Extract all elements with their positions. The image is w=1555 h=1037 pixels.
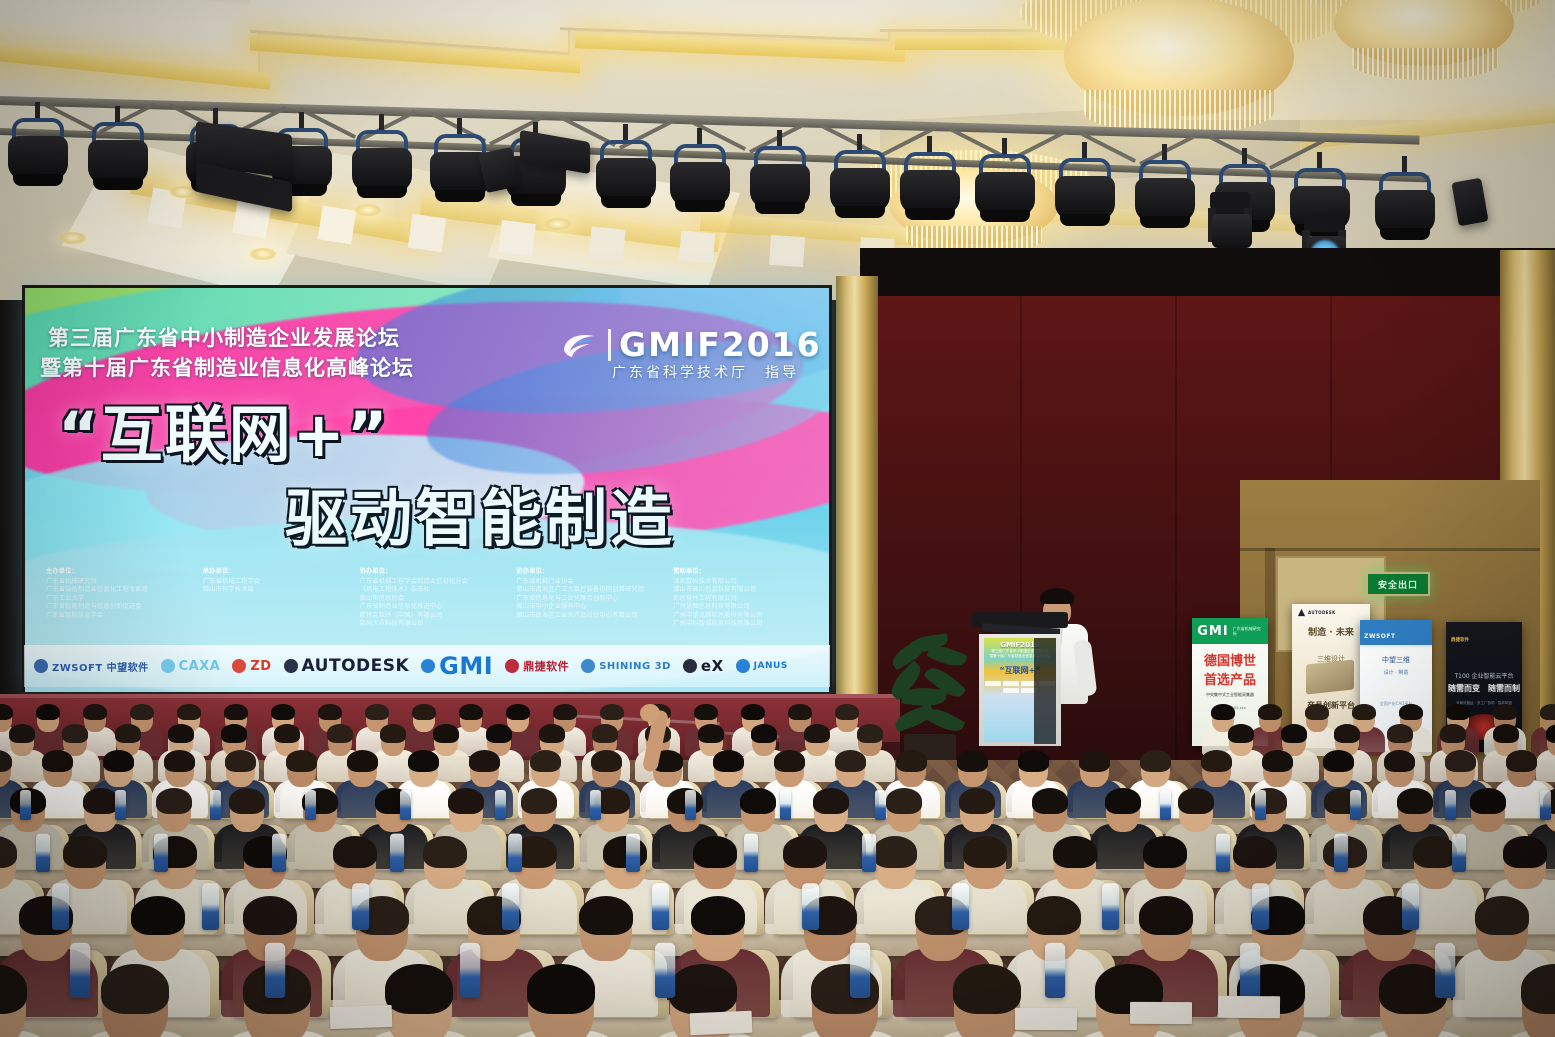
water-bottle <box>1160 790 1171 820</box>
organizer-line: 广东省机械研究所 <box>46 578 189 587</box>
audience-person-hair <box>1032 788 1069 814</box>
zd-logo-text: ZD <box>250 659 271 674</box>
gmif-brand-lockup: GMIF2016 <box>560 325 822 364</box>
organizer-line: 广州慧图信息科技有限公司 <box>673 603 816 612</box>
organizer-line: 佛山市高川信息科技有限公司 <box>673 586 816 595</box>
banner-autodesk-illustration <box>1306 659 1354 694</box>
swoosh-logo-icon <box>560 331 600 359</box>
water-bottle <box>115 790 126 820</box>
audience-person-hair <box>1258 704 1282 720</box>
audience-person-hair <box>225 750 256 772</box>
gmi-logo: GMI <box>421 652 493 680</box>
autodesk-logo: AUTODESK <box>284 656 410 676</box>
ex-logo-text: eX <box>701 657 724 675</box>
audience-person-hair <box>83 788 120 814</box>
water-bottle <box>272 834 286 872</box>
audience-person-hair <box>408 750 439 772</box>
chandelier-far-right <box>1300 0 1550 110</box>
water-bottle <box>52 883 69 930</box>
audience-person-hair <box>1493 704 1517 720</box>
audience-person-hair <box>1399 704 1423 720</box>
document-on-table <box>1218 996 1280 1019</box>
gmif-event-sub: 广东省科学技术厅 指导 <box>612 362 799 382</box>
water-bottle <box>1334 834 1348 872</box>
stage-light <box>900 152 960 222</box>
audience-person-hair <box>1228 724 1254 743</box>
organizer-line: 凯思软件工程有限公司 <box>673 595 816 604</box>
screen-slogan-line2: 驱动智能制造 <box>285 468 675 558</box>
ex-logo: eX <box>683 657 724 675</box>
water-bottle <box>210 790 221 820</box>
audience-person-hair <box>1201 750 1232 772</box>
sponsor-logo-strip: ZWSOFT 中望软件CAXAZDAUTODESKGMI鼎捷软件SHINING … <box>24 645 830 687</box>
audience-person-hair <box>423 836 467 868</box>
audience-person-hair <box>101 964 169 1014</box>
audience-person-hair <box>327 724 353 743</box>
audience-person-hair <box>0 704 13 720</box>
organizer-line: 广东省机械工程学会 <box>203 578 346 587</box>
audience-person-hair <box>486 724 512 743</box>
audience-raised-hand <box>640 704 660 722</box>
audience-person-hair <box>1281 724 1307 743</box>
dingjie-logo: 鼎捷软件 <box>505 658 569 674</box>
stage-light <box>1375 172 1435 242</box>
audience-person-hair <box>1233 836 1277 868</box>
exit-sign: 安全出口 <box>1366 572 1430 596</box>
audience-person-hair <box>1470 788 1507 814</box>
audience-person-hair <box>1262 750 1293 772</box>
water-bottle <box>685 790 696 820</box>
audience-person-hair <box>1387 724 1413 743</box>
stage-light <box>1135 160 1195 230</box>
audience-person-hair <box>527 964 595 1014</box>
audience-person-hair <box>1053 836 1097 868</box>
organizer-line: 深圳数码技术有限公司 <box>673 578 816 587</box>
audience-person-hair <box>539 724 565 743</box>
water-bottle <box>495 790 506 820</box>
audience-person-hair <box>603 836 647 868</box>
audience-person-hair <box>600 704 624 720</box>
dingjie-logo-mark-icon <box>505 659 519 673</box>
audience-person-hair <box>83 704 107 720</box>
audience-person-hair <box>1445 750 1476 772</box>
banner-t100-headline2: 随需而变 随需而制 <box>1446 683 1522 694</box>
organizer-line: 佛山市科学技术局 <box>203 586 346 595</box>
audience-person-hair <box>957 750 988 772</box>
audience-person-hair <box>1506 750 1537 772</box>
banner-t100-brand: 鼎捷软件 <box>1451 638 1469 643</box>
audience-person-hair <box>177 704 201 720</box>
audience-person-hair <box>243 896 297 935</box>
water-bottle <box>652 883 669 930</box>
organizer-column: 主办单位：广东省机械研究所广东省装备制造业信息化工程专家组广东工业大学广东省智能… <box>46 566 189 629</box>
organizer-line: 广东省信息化与工业化融合创新中心 <box>516 595 659 604</box>
banner-gmi-headline1: 德国博世 <box>1192 650 1268 669</box>
audience-person-hair <box>530 750 561 772</box>
audience-person-hair <box>318 704 342 720</box>
water-bottle <box>1452 834 1466 872</box>
stage-light <box>352 130 412 200</box>
organizer-line: 广东省智能信息学会 <box>46 612 189 621</box>
audience-person-hair <box>579 896 633 935</box>
stage-light <box>975 154 1035 224</box>
stage-light <box>750 146 810 216</box>
audience-person-hair <box>131 896 185 935</box>
ex-logo-mark-icon <box>683 659 697 673</box>
stage-light <box>1055 158 1115 228</box>
water-bottle <box>502 883 519 930</box>
audience-person-hair <box>274 724 300 743</box>
water-bottle <box>352 883 369 930</box>
audience-person-hair <box>1384 750 1415 772</box>
audience-person-hair <box>271 704 295 720</box>
water-bottle <box>744 834 758 872</box>
audience-person-hair <box>1143 836 1187 868</box>
banner-gmi-header: GMI 广东省机械研究所 <box>1192 618 1268 644</box>
audience-person-hair <box>1540 704 1555 720</box>
audience-person-hair <box>1440 724 1466 743</box>
organizer-column-heading: 赞助单位： <box>673 566 816 575</box>
water-bottle <box>1102 883 1119 930</box>
audience-person-hair <box>448 788 485 814</box>
water-bottle <box>1255 790 1266 820</box>
water-bottle <box>154 834 168 872</box>
water-bottle <box>400 790 411 820</box>
audience-person-hair <box>229 788 266 814</box>
audience-person-hair <box>63 836 107 868</box>
screen-title-line1: 第三届广东省中小制造企业发展论坛 <box>48 322 400 352</box>
audience-person-hair <box>62 724 88 743</box>
organizer-line: 《机电工程技术》杂志社 <box>360 586 503 595</box>
audience-person-hair <box>459 704 483 720</box>
audience-person-hair <box>788 704 812 720</box>
audience-person-hair <box>1079 750 1110 772</box>
audience-person-hair <box>1503 836 1547 868</box>
zwsoft-logo-text: ZWSOFT 中望软件 <box>52 659 149 674</box>
audience-person-hair <box>804 724 830 743</box>
audience-person-hair <box>1446 704 1470 720</box>
water-bottle <box>1350 790 1361 820</box>
banner-zwsoft-sub: 设计 · 制造 <box>1360 669 1432 676</box>
audience-person-hair <box>713 750 744 772</box>
water-bottle <box>590 790 601 820</box>
water-bottle <box>1435 943 1455 998</box>
organizer-column: 协办单位：广东省机械行业协会佛山市南海区广工大数控装备协同创新研究院广东省信息化… <box>516 566 659 629</box>
audience-person-hair <box>694 704 718 720</box>
organizer-line: 佛山市南海区广工大数控装备协同创新研究院 <box>516 586 659 595</box>
audience-person-hair <box>469 750 500 772</box>
banner-autodesk-headline: 制造 · 未来 <box>1292 625 1370 638</box>
shining3d-logo-text: SHINING 3D <box>599 661 671 672</box>
water-bottle <box>850 943 870 998</box>
audience-person-hair <box>1211 704 1235 720</box>
audience-person-hair <box>886 788 923 814</box>
caxa-logo-mark-icon <box>161 659 175 673</box>
water-bottle <box>202 883 219 930</box>
stage-light <box>670 144 730 214</box>
audience-person-hair <box>774 750 805 772</box>
water-bottle <box>802 883 819 930</box>
banner-gmi-sub: 中央集中式工业智能采集器 <box>1192 692 1268 698</box>
autodesk-mark-icon <box>1297 608 1306 617</box>
organizer-line: 佛山市南海区工业大产品设计中心有限公司 <box>516 612 659 621</box>
water-bottle <box>1240 943 1260 998</box>
water-bottle <box>265 943 285 998</box>
water-bottle <box>862 834 876 872</box>
organizer-line: 佛山市信息协会 <box>360 595 503 604</box>
banner-zwsoft-headline: 中望三维 <box>1360 655 1432 665</box>
audience-person-hair <box>698 724 724 743</box>
audience-person-hair <box>1178 788 1215 814</box>
audience-person-hair <box>1305 704 1329 720</box>
audience-person-hair <box>783 836 827 868</box>
audience-person-hair <box>669 964 737 1014</box>
stage-light <box>830 150 890 220</box>
audience-person-hair <box>433 724 459 743</box>
water-bottle <box>36 834 50 872</box>
audience-person-hair <box>286 750 317 772</box>
zwsoft-logo: ZWSOFT 中望软件 <box>34 659 149 674</box>
caxa-logo-text: CAXA <box>179 659 221 674</box>
audience-person-hair <box>1140 750 1171 772</box>
audience-person-hair <box>506 704 530 720</box>
document-on-table <box>1130 1002 1192 1024</box>
audience-person-hair <box>693 836 737 868</box>
organizer-column-heading: 承办单位： <box>203 566 346 575</box>
document-on-table <box>1015 1008 1077 1030</box>
organizer-column: 协办单位：广东省机械工程学会制造业信息化分会《机电工程技术》杂志社佛山市信息协会… <box>360 566 503 629</box>
audience-person-hair <box>42 750 73 772</box>
audience-person-hair <box>592 724 618 743</box>
water-bottle <box>655 943 675 998</box>
water-bottle <box>1402 883 1419 930</box>
organizer-line: 广东省智能制造与信息创新促进会 <box>46 603 189 612</box>
gmi-logo-text: GMI <box>439 652 493 680</box>
document-on-table <box>330 1005 393 1029</box>
organizer-columns: 主办单位：广东省机械研究所广东省装备制造业信息化工程专家组广东工业大学广东省智能… <box>46 566 816 629</box>
conference-hall-photo: 安全出口 第三届广东省中小制造企业发展论坛 暨第十届广东省制造业信息化高峰论坛 … <box>0 0 1555 1037</box>
organizer-column: 赞助单位：深圳数码技术有限公司佛山市高川信息科技有限公司凯思软件工程有限公司广州… <box>673 566 816 629</box>
water-bottle <box>1445 790 1456 820</box>
audience-person-hair <box>953 964 1021 1014</box>
janus-logo-text: JANUS <box>754 661 788 671</box>
banner-zwsoft-brand: ZWSOFT <box>1364 633 1396 640</box>
audience-person-hair <box>1475 896 1529 935</box>
audience-person-hair <box>813 788 850 814</box>
organizer-column-heading: 协办单位： <box>360 566 503 575</box>
autodesk-logo-text: AUTODESK <box>302 656 410 676</box>
audience-person-hair <box>164 750 195 772</box>
water-bottle <box>1252 883 1269 930</box>
water-bottle <box>460 943 480 998</box>
water-bottle <box>875 790 886 820</box>
audience-person-hair <box>1027 896 1081 935</box>
janus-logo-mark-icon <box>736 659 750 673</box>
audience-person-hair <box>591 750 622 772</box>
audience-person-hair <box>1105 788 1142 814</box>
potted-plant <box>884 636 974 766</box>
audience-person-hair <box>365 704 389 720</box>
audience-person-hair <box>380 724 406 743</box>
audience-person-hair <box>221 724 247 743</box>
banner-autodesk-brand: AUTODESK <box>1308 610 1336 615</box>
audience-person-hair <box>156 788 193 814</box>
exit-sign-label: 安全出口 <box>1378 578 1418 591</box>
audience-person-hair <box>553 704 577 720</box>
water-bottle <box>1540 790 1551 820</box>
audience-person-hair <box>333 836 377 868</box>
organizer-line: 广东工业大学 <box>46 595 189 604</box>
audience-person-hair <box>168 724 194 743</box>
organizer-line: 广东省机械行业协会 <box>516 578 659 587</box>
audience-person-hair <box>1323 750 1354 772</box>
screen-slogan-line1: “互联网+” <box>58 384 389 474</box>
audience-person-hair <box>1139 896 1193 935</box>
audience-person-hair <box>347 750 378 772</box>
dingjie-logo-text: 鼎捷软件 <box>523 658 569 674</box>
water-bottle <box>952 883 969 930</box>
banner-gmi-headline2: 首选产品 <box>1192 669 1268 688</box>
audience-person-hair <box>741 704 765 720</box>
zd-logo-mark-icon <box>232 659 246 673</box>
organizer-line: 佛山市中小企业服务中心 <box>516 603 659 612</box>
banner-t100-headline1: T100 企业智能云平台 <box>1446 671 1522 680</box>
janus-logo: JANUS <box>736 659 788 673</box>
banner-gmi-brand-sub: 广东省机械研究所 <box>1233 626 1263 636</box>
audience-person-hair <box>130 704 154 720</box>
audience-person-hair <box>1334 724 1360 743</box>
organizer-line: 广东省装备制造业信息化工程专家组 <box>46 586 189 595</box>
banner-gmi-brand: GMI <box>1197 624 1228 639</box>
water-bottle <box>1216 834 1230 872</box>
water-bottle <box>508 834 522 872</box>
gmi-logo-mark-icon <box>421 659 435 673</box>
audience-person-hair <box>521 788 558 814</box>
audience-person-hair <box>1397 788 1434 814</box>
organizer-column: 承办单位：广东省机械工程学会佛山市科学技术局 <box>203 566 346 629</box>
audience-person-hair <box>959 788 996 814</box>
stage-light <box>88 122 148 192</box>
audience-person-hair <box>835 750 866 772</box>
audience-person-hair <box>9 724 35 743</box>
zd-logo: ZD <box>232 659 271 674</box>
document-on-table <box>690 1011 753 1036</box>
caxa-logo: CAXA <box>161 659 221 674</box>
audience-person-hair <box>963 836 1007 868</box>
audience-person-hair <box>751 724 777 743</box>
audience-person-hair <box>36 704 60 720</box>
water-bottle <box>1045 943 1065 998</box>
gmif-event-name: GMIF2016 <box>619 325 822 364</box>
organizer-line: 广州中科智城信息科技有限公司 <box>673 620 816 629</box>
audience-person-hair <box>224 704 248 720</box>
audience-person-hair <box>1018 750 1049 772</box>
audience-person-hair <box>740 788 777 814</box>
audience-person-hair <box>857 724 883 743</box>
audience-person-hair <box>896 750 927 772</box>
audience-person-hair <box>103 750 134 772</box>
audience-person-hair <box>1352 704 1376 720</box>
water-bottle <box>780 790 791 820</box>
shining3d-logo: SHINING 3D <box>581 659 671 673</box>
audience-person-hair <box>1493 724 1519 743</box>
shining3d-logo-mark-icon <box>581 659 595 673</box>
audience-person-hair <box>1413 836 1457 868</box>
zwsoft-logo-mark-icon <box>34 659 48 673</box>
water-bottle <box>305 790 316 820</box>
organizer-line: 广东省机械工程学会制造业信息化分会 <box>360 578 503 587</box>
organizer-column-heading: 协办单位： <box>516 566 659 575</box>
water-bottle <box>20 790 31 820</box>
audience-person-hair <box>873 836 917 868</box>
audience-person-hair <box>385 964 453 1014</box>
water-bottle <box>626 834 640 872</box>
audience-person-hair <box>412 704 436 720</box>
audience-person-hair <box>835 704 859 720</box>
stage-light <box>596 140 656 210</box>
audience-person-hair <box>115 724 141 743</box>
organizer-line: 数码大方科技有限公司 <box>360 620 503 629</box>
stage-light <box>8 118 68 188</box>
autodesk-logo-mark-icon <box>284 659 298 673</box>
water-bottle <box>390 834 404 872</box>
audience-person-hair <box>691 896 745 935</box>
screen-title-line2: 暨第十届广东省制造业信息化高峰论坛 <box>40 352 414 382</box>
organizer-line: 广东省制造业信息化推进中心 <box>360 603 503 612</box>
podium: GMIF2016 第三届广东省中小制造企业发展论坛 暨第十届广东省制造业信息化高… <box>972 612 1072 758</box>
water-bottle <box>70 943 90 998</box>
organizer-column-heading: 主办单位： <box>46 566 189 575</box>
